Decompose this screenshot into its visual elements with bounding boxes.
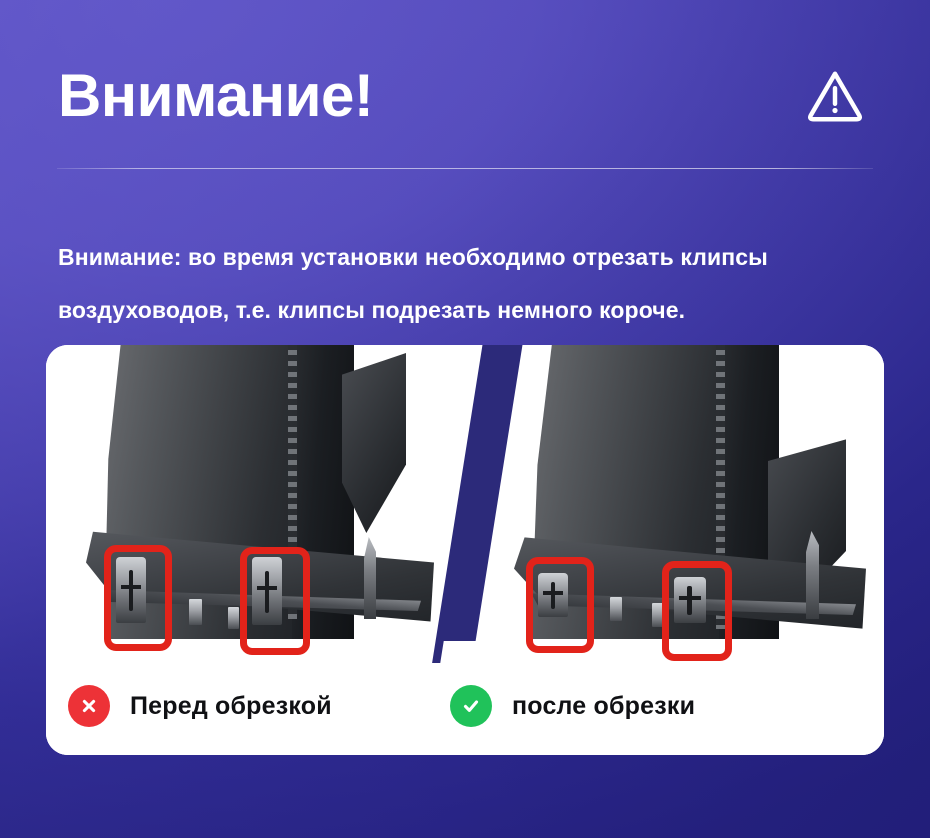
header-divider [57, 168, 873, 169]
highlight-box [104, 545, 172, 651]
highlight-box [526, 557, 594, 653]
label-before: Перед обрезкой [68, 685, 332, 727]
highlight-box [240, 547, 310, 655]
duct-stud [610, 597, 622, 621]
label-band-notch [440, 641, 477, 663]
duct-bracket [364, 537, 376, 619]
header: Внимание! [58, 48, 890, 144]
x-circle-icon [68, 685, 110, 727]
warning-triangle-icon [804, 65, 866, 127]
comparison-card: VS Перед обрезкой после об [46, 345, 884, 755]
duct-stud [228, 607, 239, 629]
poster-root: Внимание! Внимание: во время установки н… [0, 0, 930, 838]
label-before-text: Перед обрезкой [130, 692, 332, 721]
check-circle-icon [450, 685, 492, 727]
duct-stud [189, 599, 202, 625]
warning-body-text: Внимание: во время установки необходимо … [58, 231, 880, 337]
label-after: после обрезки [450, 685, 695, 727]
label-after-text: после обрезки [512, 692, 695, 721]
highlight-box [662, 561, 732, 661]
page-title: Внимание! [58, 66, 373, 126]
